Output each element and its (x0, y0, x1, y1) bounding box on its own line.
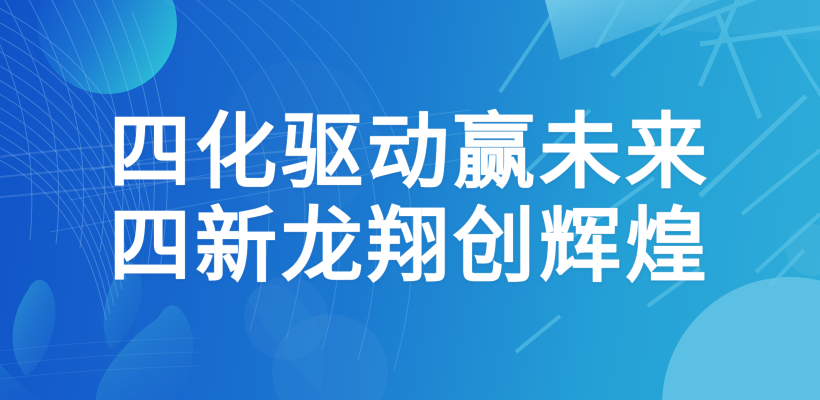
headline-line-2: 四新龙翔创辉煌 (109, 206, 711, 288)
headline-line-1: 四化驱动赢未来 (109, 112, 711, 194)
promo-banner: 四化驱动赢未来 四新龙翔创辉煌 (0, 0, 820, 400)
headline-block: 四化驱动赢未来 四新龙翔创辉煌 (0, 0, 820, 400)
